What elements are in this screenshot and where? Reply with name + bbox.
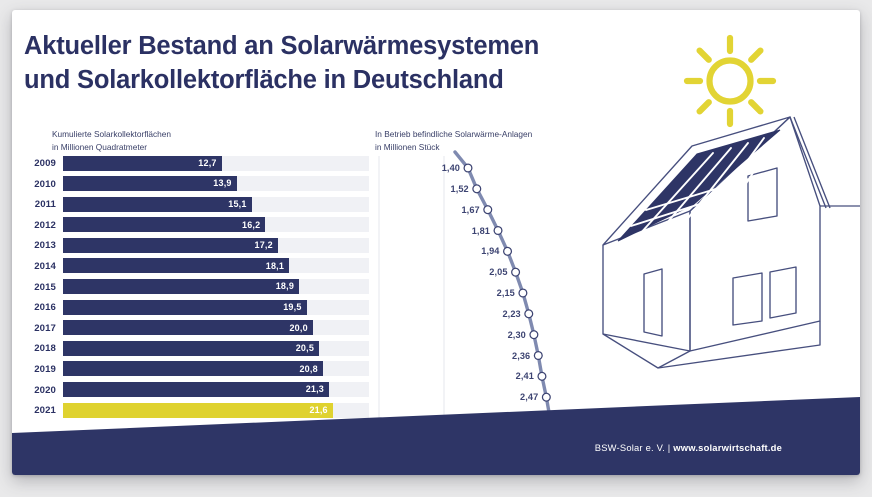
- bar-fill: 12,7: [63, 156, 222, 171]
- bar-row: 201216,2: [20, 216, 380, 237]
- infographic-card: Aktueller Bestand an Solarwärmesystemen …: [12, 10, 860, 475]
- bar-fill: 18,1: [63, 258, 289, 273]
- line-data-point: [504, 247, 512, 255]
- bar-fill: 17,2: [63, 238, 278, 253]
- footer-band: [12, 397, 860, 475]
- bar-fill: 21,3: [63, 382, 329, 397]
- bar-value-label: 12,7: [198, 158, 216, 168]
- bar-row: 201013,9: [20, 175, 380, 196]
- title-line-2: und Solarkollektorfläche in Deutschland: [24, 64, 664, 98]
- bar-track: 18,9: [63, 279, 369, 294]
- bar-row: 201820,5: [20, 339, 380, 360]
- line-data-point: [538, 372, 546, 380]
- bar-track: 20,0: [63, 320, 369, 335]
- line-value-label: 2,05: [489, 267, 507, 277]
- line-value-label: 2,23: [502, 309, 520, 319]
- line-data-point: [494, 227, 502, 235]
- bar-fill: 15,1: [63, 197, 252, 212]
- bar-value-label: 15,1: [228, 199, 246, 209]
- line-value-label: 1,67: [461, 205, 479, 215]
- line-value-label: 2,15: [497, 288, 515, 298]
- bar-track: 19,5: [63, 300, 369, 315]
- bar-year-label: 2016: [20, 302, 56, 313]
- bar-year-label: 2020: [20, 385, 56, 396]
- bar-chart-caption: Kumulierte Solarkollektorflächen in Mill…: [52, 128, 282, 154]
- line-value-label: 1,81: [472, 226, 490, 236]
- infographic-stage: Aktueller Bestand an Solarwärmesystemen …: [0, 0, 872, 497]
- bar-row: 201920,8: [20, 360, 380, 381]
- bar-fill: 18,9: [63, 279, 299, 294]
- line-data-point: [534, 352, 542, 360]
- bar-year-label: 2018: [20, 343, 56, 354]
- line-caption-line-1: In Betrieb befindliche Solarwärme-Anlage…: [375, 128, 595, 141]
- line-value-label: 1,40: [442, 163, 460, 173]
- bar-track: 16,2: [63, 217, 369, 232]
- line-data-point: [464, 164, 472, 172]
- footer-url: www.solarwirtschaft.de: [673, 442, 782, 453]
- bar-year-label: 2009: [20, 158, 56, 169]
- bar-fill: 20,0: [63, 320, 313, 335]
- bar-row: 201619,5: [20, 298, 380, 319]
- bar-row: 201115,1: [20, 195, 380, 216]
- bar-fill: 13,9: [63, 176, 237, 191]
- bar-year-label: 2019: [20, 364, 56, 375]
- bar-track: 12,7: [63, 156, 369, 171]
- bar-row: 200912,7: [20, 154, 380, 175]
- line-chart: 1,401,521,671,811,942,052,152,232,302,36…: [368, 150, 568, 430]
- bar-year-label: 2013: [20, 240, 56, 251]
- bar-track: 18,1: [63, 258, 369, 273]
- bar-caption-line-2: in Millionen Quadratmeter: [52, 141, 282, 154]
- line-value-label: 1,52: [450, 184, 468, 194]
- bar-row: 201720,0: [20, 319, 380, 340]
- bar-track: 21,3: [63, 382, 369, 397]
- title-line-1: Aktueller Bestand an Solarwärmesystemen: [24, 32, 539, 60]
- bar-track: 13,9: [63, 176, 369, 191]
- bar-fill: 16,2: [63, 217, 265, 232]
- bar-value-label: 13,9: [213, 178, 231, 188]
- footer-org: BSW-Solar e. V. |: [595, 442, 673, 453]
- line-value-label: 2,36: [512, 351, 530, 361]
- bar-row: 201518,9: [20, 278, 380, 299]
- bar-track: 17,2: [63, 238, 369, 253]
- line-data-point: [484, 206, 492, 214]
- line-value-label: 2,30: [508, 330, 526, 340]
- bar-value-label: 18,1: [266, 261, 284, 271]
- bar-caption-line-1: Kumulierte Solarkollektorflächen: [52, 128, 282, 141]
- bar-row: 201418,1: [20, 257, 380, 278]
- bar-year-label: 2015: [20, 282, 56, 293]
- bar-track: 15,1: [63, 197, 369, 212]
- bar-year-label: 2011: [20, 199, 56, 210]
- line-data-point: [512, 268, 520, 276]
- line-data-point: [530, 331, 538, 339]
- bar-row: 201317,2: [20, 236, 380, 257]
- page-title: Aktueller Bestand an Solarwärmesystemen …: [24, 30, 664, 97]
- footer-credit: BSW-Solar e. V. | www.solarwirtschaft.de: [595, 442, 782, 453]
- bar-value-label: 18,9: [276, 281, 294, 291]
- bar-value-label: 17,2: [254, 240, 272, 250]
- bar-value-label: 20,8: [299, 364, 317, 374]
- bar-chart: 200912,7201013,9201115,1201216,2201317,2…: [20, 154, 380, 422]
- bar-value-label: 20,0: [289, 323, 307, 333]
- line-value-label: 1,94: [481, 246, 499, 256]
- line-data-point: [519, 289, 527, 297]
- bar-fill: 20,5: [63, 341, 319, 356]
- line-value-label: 2,41: [516, 371, 534, 381]
- bar-year-label: 2010: [20, 179, 56, 190]
- bar-value-label: 19,5: [283, 302, 301, 312]
- bar-value-label: 21,3: [306, 384, 324, 394]
- bar-year-label: 2012: [20, 220, 56, 231]
- bar-value-label: 20,5: [296, 343, 314, 353]
- bar-fill: 20,8: [63, 361, 323, 376]
- line-data-point: [525, 310, 533, 318]
- bar-track: 20,5: [63, 341, 369, 356]
- bar-fill: 19,5: [63, 300, 307, 315]
- line-data-point: [473, 185, 481, 193]
- bar-year-label: 2014: [20, 261, 56, 272]
- bar-track: 20,8: [63, 361, 369, 376]
- bar-value-label: 16,2: [242, 220, 260, 230]
- line-series-path: [455, 152, 550, 418]
- bar-year-label: 2017: [20, 323, 56, 334]
